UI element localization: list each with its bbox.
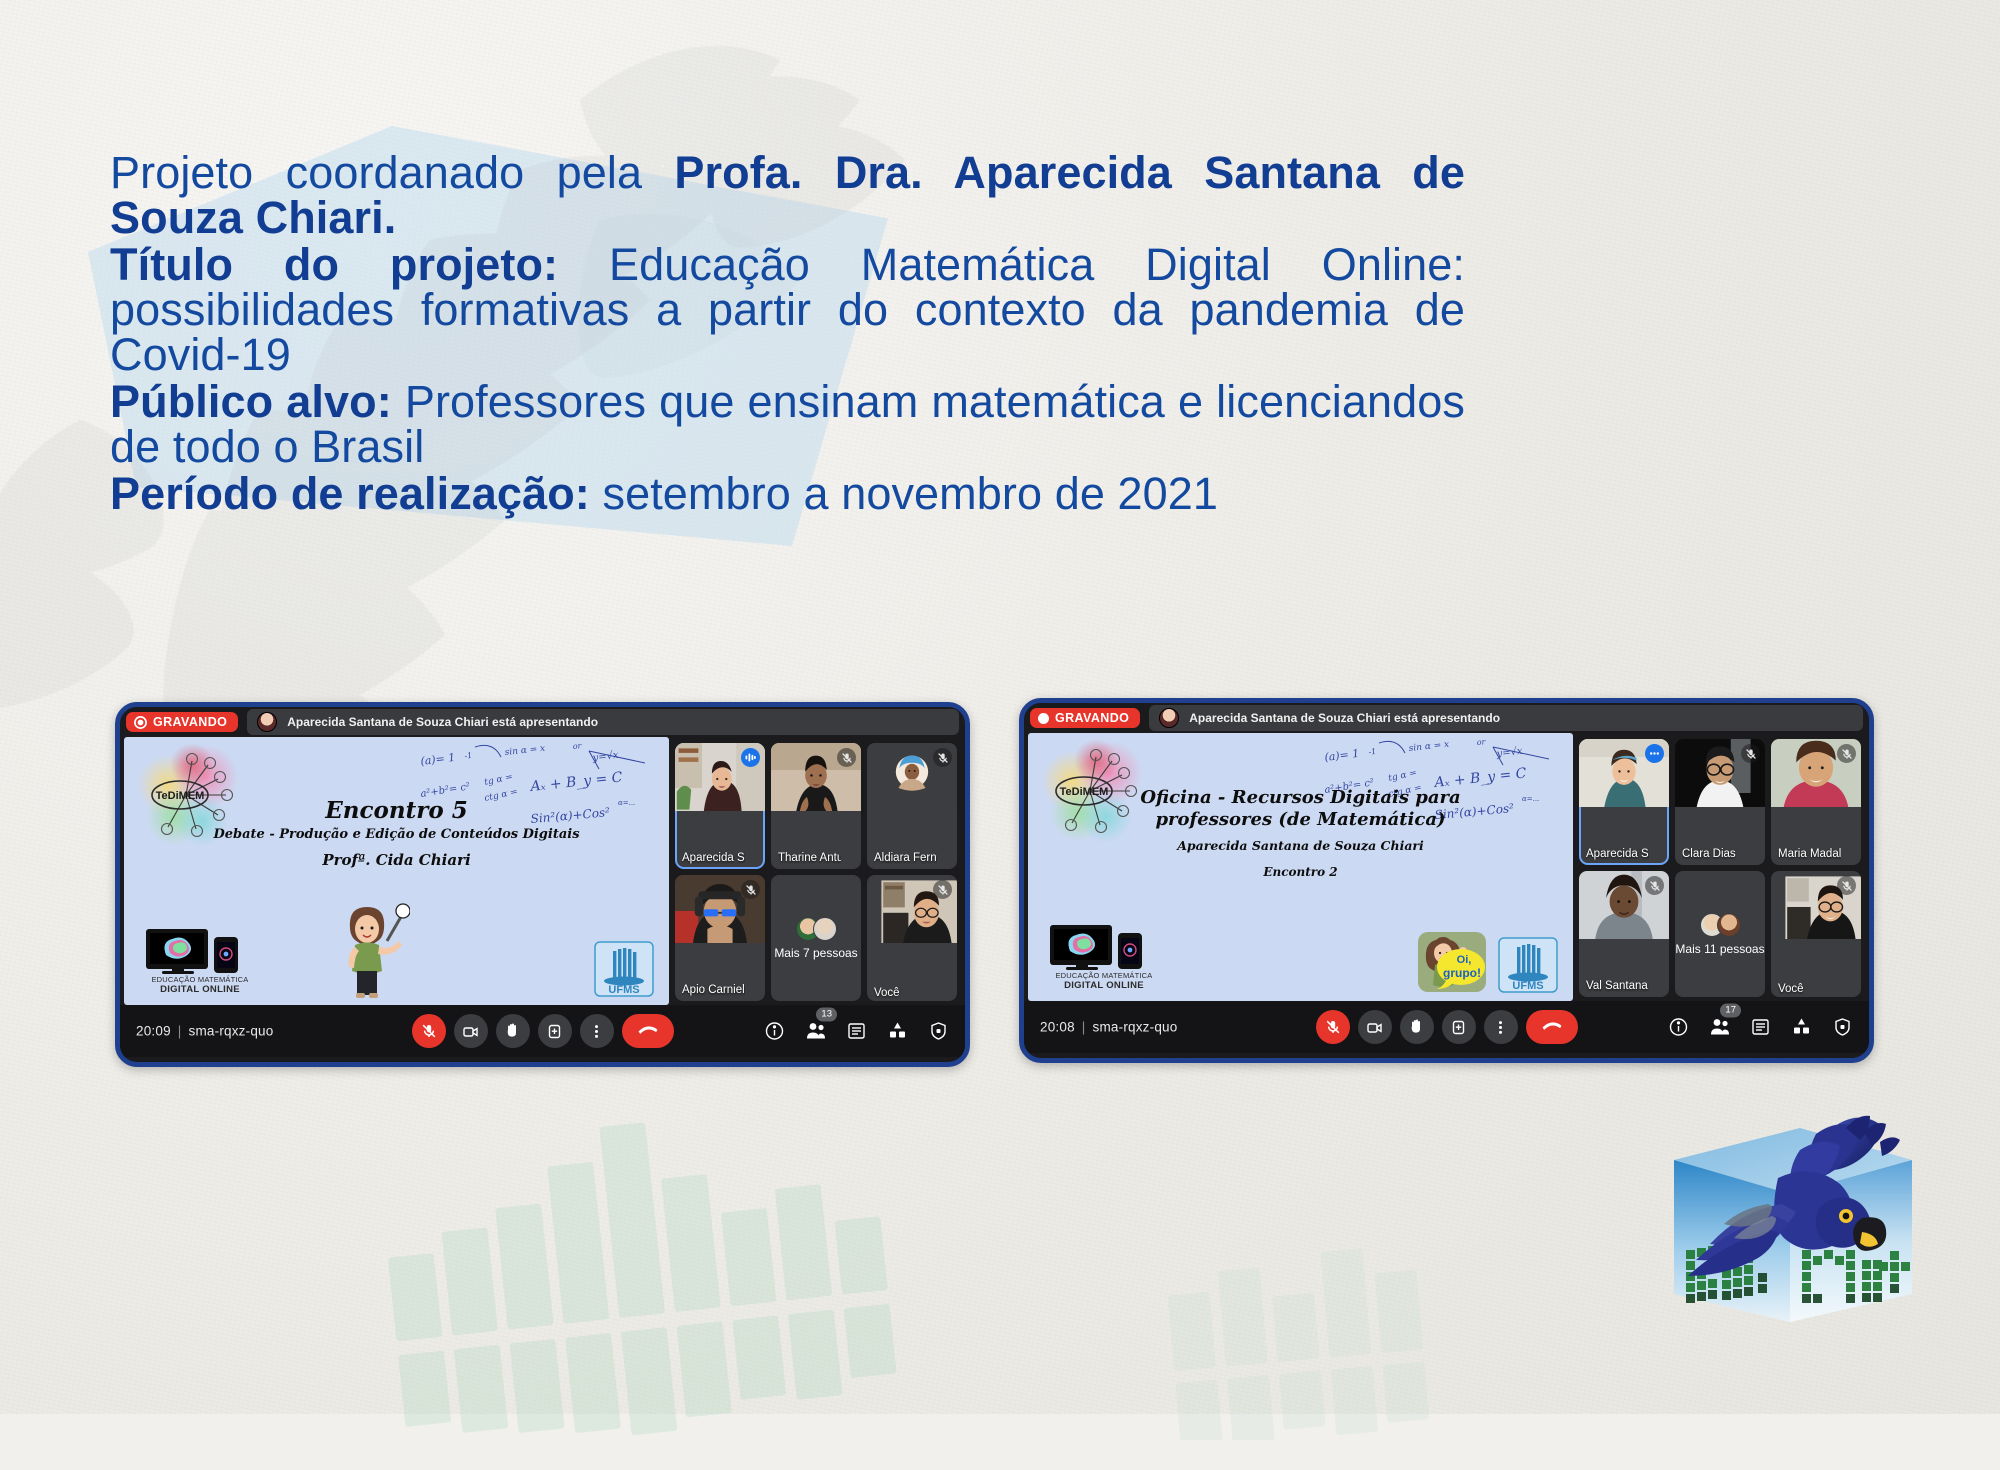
activities-icon[interactable] bbox=[887, 1021, 908, 1042]
mic-off-icon bbox=[741, 880, 760, 899]
svg-text:tg α =: tg α = bbox=[1388, 768, 1418, 784]
mic-off-icon bbox=[1741, 744, 1760, 763]
participant-count-badge: 17 bbox=[1720, 1004, 1741, 1018]
mic-off-button[interactable] bbox=[412, 1014, 446, 1048]
info-icon[interactable] bbox=[1668, 1017, 1689, 1038]
camera-button[interactable] bbox=[454, 1014, 488, 1048]
shared-slide-right[interactable]: TeDiMEM (a)= 1 -1 a²+b²= c² tg α = ctg α… bbox=[1028, 733, 1573, 1001]
grupo-text: grupo! bbox=[1443, 966, 1481, 980]
chat-icon[interactable] bbox=[846, 1021, 867, 1042]
info-icon[interactable] bbox=[764, 1021, 785, 1042]
self-tile[interactable]: Você bbox=[1771, 871, 1861, 997]
presenting-text: Aparecida Santana de Souza Chiari está a… bbox=[287, 715, 598, 729]
activities-icon[interactable] bbox=[1791, 1017, 1812, 1038]
presenting-chip: Aparecida Santana de Souza Chiari está a… bbox=[247, 709, 959, 735]
camera-button[interactable] bbox=[1358, 1010, 1392, 1044]
participant-grid-right: Aparecida San... bbox=[1577, 733, 1865, 1001]
meeting-body: TeDiMEM (a)= 1 -1 a²+b²= c² tg α = ctg α… bbox=[1024, 733, 1869, 1001]
audience-label: Público alvo: bbox=[110, 376, 392, 427]
svg-text:-1: -1 bbox=[464, 751, 473, 761]
svg-text:(a)= 1: (a)= 1 bbox=[1324, 747, 1360, 764]
participant-count-badge: 13 bbox=[816, 1008, 837, 1022]
oi-grupo-sticker: Oi, grupo! bbox=[1417, 931, 1487, 993]
more-options-icon[interactable] bbox=[1645, 744, 1664, 763]
oi-text: Oi, bbox=[1457, 954, 1472, 966]
svg-text:tg α =: tg α = bbox=[484, 772, 514, 788]
emd-caption: EDUCAÇÃO MATEMÁTICA DIGITAL ONLINE bbox=[140, 975, 260, 995]
meeting-code: sma-rqxz-quo bbox=[189, 1024, 274, 1039]
participant-tile[interactable]: Clara Dias bbox=[1675, 739, 1765, 865]
self-tile[interactable]: Você bbox=[867, 875, 957, 1001]
project-title-line: Título do projeto: Educação Matemática D… bbox=[110, 242, 1465, 377]
meeting-bottom-bar-right: 20:08|sma-rqxz-quo bbox=[1024, 1001, 1869, 1053]
edumat-logo bbox=[1650, 1108, 1936, 1336]
emd-logo-right: EDUCAÇÃO MATEMÁTICA DIGITAL ONLINE bbox=[1044, 923, 1164, 991]
participant-tile[interactable]: Aldiara Fernan... bbox=[867, 743, 957, 869]
slide-title-block-left: Encontro 5 Debate - Produção e Edição de… bbox=[124, 799, 669, 869]
meeting-controls bbox=[412, 1014, 674, 1048]
emd-caption: EDUCAÇÃO MATEMÁTICA DIGITAL ONLINE bbox=[1044, 971, 1164, 991]
people-icon[interactable]: 13 bbox=[805, 1021, 826, 1042]
meeting-body: TeDiMEM (a)= 1 -1 a²+b²= c² tg α = ctg α… bbox=[120, 737, 965, 1005]
period-line: Período de realização: setembro a novemb… bbox=[110, 471, 1465, 516]
people-icon[interactable]: 17 bbox=[1709, 1017, 1730, 1038]
svg-text:or: or bbox=[572, 741, 583, 751]
present-button[interactable] bbox=[538, 1014, 572, 1048]
mic-off-icon bbox=[1837, 876, 1856, 895]
self-label: Você bbox=[874, 987, 937, 999]
overflow-avatars bbox=[796, 917, 837, 941]
emd-caption-line1: EDUCAÇÃO MATEMÁTICA bbox=[140, 975, 260, 984]
ufms-logo: UFMS bbox=[593, 941, 655, 997]
recording-label: GRAVANDO bbox=[1055, 711, 1129, 725]
mic-off-button[interactable] bbox=[1316, 1010, 1350, 1044]
emd-caption-line2: DIGITAL ONLINE bbox=[1044, 980, 1164, 991]
participant-tile[interactable]: Aparecida San... bbox=[1579, 739, 1669, 865]
presenting-text: Aparecida Santana de Souza Chiari está a… bbox=[1189, 711, 1500, 725]
mic-off-icon bbox=[933, 880, 952, 899]
recording-badge: GRAVANDO bbox=[1030, 708, 1140, 728]
participant-tile[interactable]: Tharine Antun... bbox=[771, 743, 861, 869]
shared-slide-left[interactable]: TeDiMEM (a)= 1 -1 a²+b²= c² tg α = ctg α… bbox=[124, 737, 669, 1005]
meeting-code: sma-rqxz-quo bbox=[1093, 1020, 1178, 1035]
emd-caption-line2: DIGITAL ONLINE bbox=[140, 984, 260, 995]
participant-tile[interactable]: Apio Carniello bbox=[675, 875, 765, 1001]
mic-off-icon bbox=[933, 748, 952, 767]
participant-name: Apio Carniello bbox=[682, 984, 745, 996]
participant-tile[interactable]: Maria Madale... bbox=[1771, 739, 1861, 865]
period-label: Período de realização: bbox=[110, 468, 590, 519]
record-icon bbox=[134, 716, 147, 729]
avatar bbox=[1717, 913, 1741, 937]
recording-badge: GRAVANDO bbox=[126, 712, 238, 732]
more-options-button[interactable] bbox=[1484, 1010, 1518, 1044]
meeting-time: 20:08 bbox=[1040, 1020, 1075, 1035]
svg-text:Aₓ + B_y = C: Aₓ + B_y = C bbox=[528, 769, 624, 795]
presenter-avatar bbox=[1159, 708, 1179, 728]
overflow-participants-tile[interactable]: Mais 7 pessoas bbox=[771, 875, 861, 1001]
hang-up-button[interactable] bbox=[622, 1014, 674, 1048]
svg-text:-1: -1 bbox=[1368, 747, 1377, 757]
recording-label: GRAVANDO bbox=[153, 715, 227, 729]
svg-text:or: or bbox=[1476, 737, 1487, 747]
meeting-time: 20:09 bbox=[136, 1024, 171, 1039]
slide-heading: Encontro 5 bbox=[124, 799, 669, 823]
period-text: setembro a novembro de 2021 bbox=[590, 468, 1218, 519]
project-title-label: Título do projeto: bbox=[110, 239, 558, 290]
svg-text:sin α = x: sin α = x bbox=[1408, 740, 1449, 754]
participant-tile[interactable]: Aparecida San... bbox=[675, 743, 765, 869]
slide-subheading: Aparecida Santana de Souza Chiari bbox=[1028, 838, 1573, 853]
slide-presenter: Profª. Cida Chiari bbox=[124, 851, 669, 869]
more-options-button[interactable] bbox=[580, 1014, 614, 1048]
mic-off-icon bbox=[1645, 876, 1664, 895]
meeting-top-bar: GRAVANDO Aparecida Santana de Souza Chia… bbox=[1024, 703, 1869, 733]
presenter-avatar bbox=[257, 712, 277, 732]
participant-grid-left: Aparecida San... Tharine Antun. bbox=[673, 737, 961, 1005]
emd-caption-line1: EDUCAÇÃO MATEMÁTICA bbox=[1044, 971, 1164, 980]
meeting-bottom-bar-left: 20:09|sma-rqxz-quo bbox=[120, 1005, 965, 1057]
project-description-block: Projeto coordanado pela Profa. Dra. Apar… bbox=[110, 150, 1465, 518]
audience-line: Público alvo: Professores que ensinam ma… bbox=[110, 379, 1465, 469]
emd-logo-left: EDUCAÇÃO MATEMÁTICA DIGITAL ONLINE bbox=[140, 927, 260, 995]
meeting-top-bar: GRAVANDO Aparecida Santana de Souza Chia… bbox=[120, 707, 965, 737]
raise-hand-button[interactable] bbox=[1400, 1010, 1434, 1044]
participant-name: Val Santana bbox=[1586, 980, 1649, 992]
overflow-label: Mais 11 pessoas bbox=[1675, 942, 1764, 956]
ufms-logo: UFMS bbox=[1497, 937, 1559, 993]
mic-off-icon bbox=[837, 748, 856, 767]
teacher-bitmoji bbox=[324, 901, 410, 1001]
svg-text:sin α = x: sin α = x bbox=[504, 744, 545, 758]
coordinator-line: Projeto coordanado pela Profa. Dra. Apar… bbox=[110, 150, 1465, 240]
meeting-info: 20:08|sma-rqxz-quo bbox=[1040, 1020, 1177, 1035]
chat-icon[interactable] bbox=[1750, 1017, 1771, 1038]
host-controls-icon[interactable] bbox=[1832, 1017, 1853, 1038]
overflow-label: Mais 7 pessoas bbox=[774, 946, 857, 960]
raise-hand-button[interactable] bbox=[496, 1014, 530, 1048]
slide-heading: Oficina - Recursos Digitais para profess… bbox=[1028, 787, 1573, 830]
participant-tile[interactable]: Val Santana bbox=[1579, 871, 1669, 997]
host-controls-icon[interactable] bbox=[928, 1021, 949, 1042]
avatar bbox=[813, 917, 837, 941]
participant-name: Maria Madale... bbox=[1778, 848, 1841, 860]
coordinator-prefix: Projeto coordanado pela bbox=[110, 147, 674, 198]
self-label: Você bbox=[1778, 983, 1841, 995]
participant-name: Aparecida San... bbox=[1586, 848, 1649, 860]
meeting-window-left[interactable]: GRAVANDO Aparecida Santana de Souza Chia… bbox=[115, 702, 970, 1067]
meeting-right-icons: 13 bbox=[764, 1021, 949, 1042]
presenting-chip: Aparecida Santana de Souza Chiari está a… bbox=[1149, 705, 1863, 731]
speaking-icon bbox=[741, 748, 760, 767]
monitor-phone-icon bbox=[140, 927, 260, 975]
slide-title-block-right: Oficina - Recursos Digitais para profess… bbox=[1028, 787, 1573, 879]
participant-name: Clara Dias bbox=[1682, 848, 1745, 860]
ufms-text: UFMS bbox=[608, 984, 639, 996]
slide-presenter: Encontro 2 bbox=[1028, 865, 1573, 879]
hang-up-button[interactable] bbox=[1526, 1010, 1578, 1044]
meeting-controls bbox=[1316, 1010, 1578, 1044]
ufms-text: UFMS bbox=[1512, 980, 1543, 992]
present-button[interactable] bbox=[1442, 1010, 1476, 1044]
participant-name: Aldiara Fernan... bbox=[874, 852, 937, 864]
participant-name: Tharine Antun... bbox=[778, 852, 841, 864]
meeting-right-icons: 17 bbox=[1668, 1017, 1853, 1038]
meeting-info: 20:09|sma-rqxz-quo bbox=[136, 1024, 273, 1039]
svg-text:(a)= 1: (a)= 1 bbox=[420, 751, 456, 768]
overflow-avatars bbox=[1700, 913, 1741, 937]
meeting-window-right[interactable]: GRAVANDO Aparecida Santana de Souza Chia… bbox=[1019, 698, 1874, 1063]
record-icon bbox=[1038, 713, 1049, 724]
participant-name: Aparecida San... bbox=[682, 852, 745, 864]
overflow-participants-tile[interactable]: Mais 11 pessoas bbox=[1675, 871, 1765, 997]
slide-subheading: Debate - Produção e Edição de Conteúdos … bbox=[124, 827, 669, 842]
mic-off-icon bbox=[1837, 744, 1856, 763]
monitor-phone-icon bbox=[1044, 923, 1164, 971]
